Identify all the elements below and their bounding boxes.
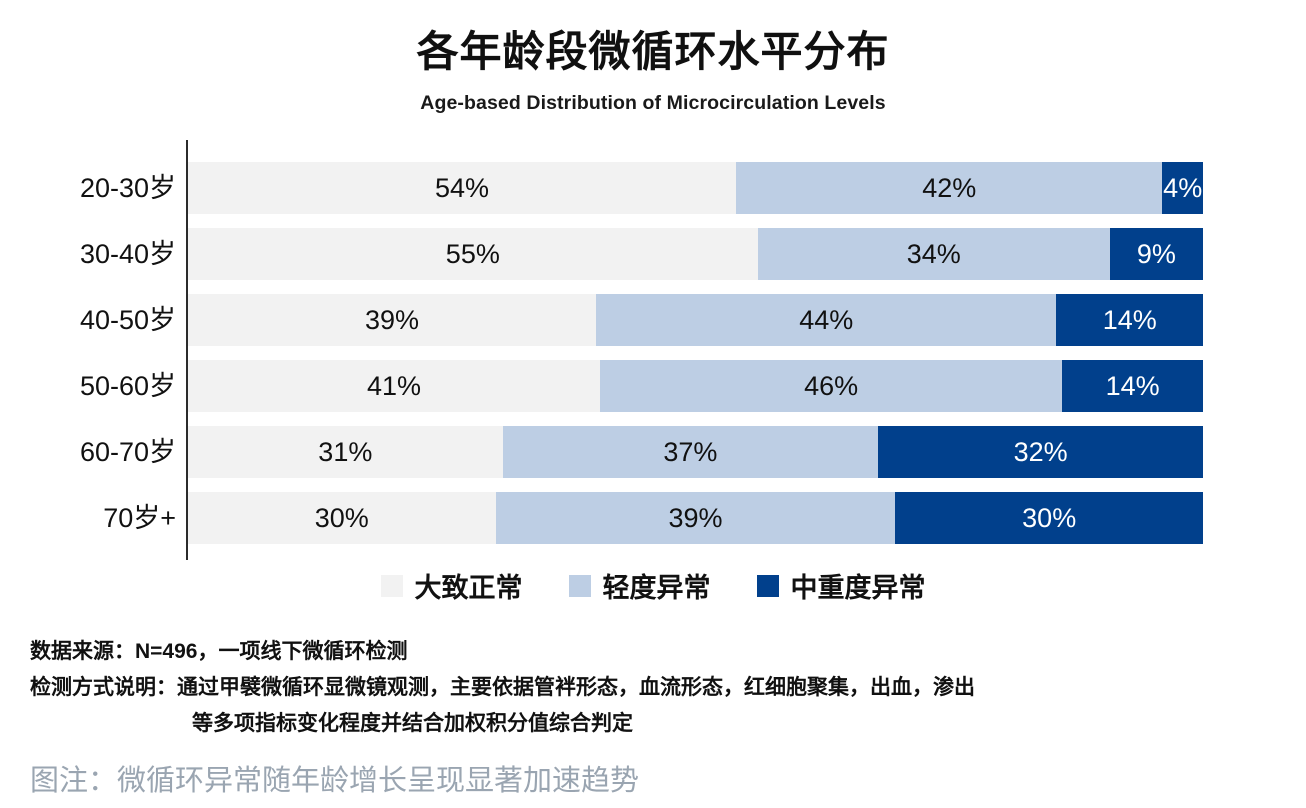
legend-swatch-icon [757,575,779,597]
y-axis-tick-label: 70岁+ [0,492,176,544]
bar-segment-value: 30% [315,503,369,534]
bar-track: 41%46%14% [188,360,1203,412]
chart-header: 各年龄段微循环水平分布 Age-based Distribution of Mi… [0,28,1306,115]
footnote-data-source: 数据来源：N=496，一项线下微循环检测 [30,634,1280,670]
bar-segment-normal[interactable]: 39% [188,294,596,346]
bar-segment-severe[interactable]: 4% [1162,162,1203,214]
bar-segment-mild[interactable]: 44% [596,294,1056,346]
bar-segment-mild[interactable]: 39% [496,492,896,544]
y-axis-tick-label: 50-60岁 [0,360,176,412]
legend-label: 轻度异常 [603,566,711,605]
bar-rows-container: 20-30岁54%42%4%30-40岁55%34%9%40-50岁39%44%… [0,140,1306,560]
bar-segment-mild[interactable]: 34% [758,228,1110,280]
legend-item-severe[interactable]: 中重度异常 [757,566,926,605]
legend-label: 中重度异常 [791,566,926,605]
bar-segment-value: 14% [1106,371,1160,402]
chart-plot-area: 20-30岁54%42%4%30-40岁55%34%9%40-50岁39%44%… [0,140,1306,560]
bar-segment-value: 39% [668,503,722,534]
bar-row: 20-30岁54%42%4% [0,162,1306,214]
bar-segment-value: 55% [446,239,500,270]
bar-segment-value: 14% [1103,305,1157,336]
bar-segment-value: 34% [907,239,961,270]
bar-segment-value: 32% [1014,437,1068,468]
bar-segment-value: 44% [799,305,853,336]
legend-item-normal[interactable]: 大致正常 [381,566,523,605]
bar-segment-severe[interactable]: 14% [1062,360,1203,412]
bar-track: 39%44%14% [188,294,1203,346]
bar-segment-mild[interactable]: 37% [503,426,879,478]
bar-row: 40-50岁39%44%14% [0,294,1306,346]
bar-row: 60-70岁31%37%32% [0,426,1306,478]
bar-segment-value: 37% [663,437,717,468]
y-axis-tick-label: 20-30岁 [0,162,176,214]
footnote-method-continued: 等多项指标变化程度并结合加权积分值综合判定 [30,706,1280,742]
chart-caption: 图注：微循环异常随年龄增长呈现显著加速趋势 [30,757,639,799]
bar-row: 30-40岁55%34%9% [0,228,1306,280]
bar-segment-value: 54% [435,173,489,204]
page-title: 各年龄段微循环水平分布 [0,28,1306,76]
footnotes: 数据来源：N=496，一项线下微循环检测 检测方式说明：通过甲襞微循环显微镜观测… [30,634,1280,742]
bar-track: 55%34%9% [188,228,1203,280]
bar-segment-value: 46% [804,371,858,402]
bar-segment-value: 41% [367,371,421,402]
bar-segment-mild[interactable]: 42% [736,162,1162,214]
legend-swatch-icon [569,575,591,597]
bar-row: 70岁+30%39%30% [0,492,1306,544]
bar-segment-severe[interactable]: 30% [895,492,1203,544]
bar-segment-normal[interactable]: 54% [188,162,736,214]
legend-label: 大致正常 [415,566,523,605]
bar-segment-value: 4% [1163,173,1202,204]
bar-segment-normal[interactable]: 41% [188,360,600,412]
bar-segment-value: 31% [318,437,372,468]
bar-segment-value: 39% [365,305,419,336]
bar-segment-severe[interactable]: 14% [1056,294,1202,346]
legend-swatch-icon [381,575,403,597]
bar-segment-severe[interactable]: 32% [878,426,1203,478]
bar-segment-normal[interactable]: 55% [188,228,758,280]
bar-track: 30%39%30% [188,492,1203,544]
page-subtitle: Age-based Distribution of Microcirculati… [0,92,1306,115]
y-axis-tick-label: 40-50岁 [0,294,176,346]
bar-segment-severe[interactable]: 9% [1110,228,1203,280]
bar-segment-normal[interactable]: 30% [188,492,496,544]
bar-segment-value: 42% [922,173,976,204]
y-axis-tick-label: 60-70岁 [0,426,176,478]
bar-row: 50-60岁41%46%14% [0,360,1306,412]
y-axis-tick-label: 30-40岁 [0,228,176,280]
bar-segment-value: 30% [1022,503,1076,534]
chart-legend: 大致正常轻度异常中重度异常 [0,566,1306,605]
bar-segment-mild[interactable]: 46% [600,360,1062,412]
bar-segment-normal[interactable]: 31% [188,426,503,478]
footnote-method: 检测方式说明：通过甲襞微循环显微镜观测，主要依据管袢形态，血流形态，红细胞聚集，… [30,670,1280,706]
legend-item-mild[interactable]: 轻度异常 [569,566,711,605]
bar-track: 54%42%4% [188,162,1203,214]
bar-track: 31%37%32% [188,426,1203,478]
bar-segment-value: 9% [1137,239,1176,270]
